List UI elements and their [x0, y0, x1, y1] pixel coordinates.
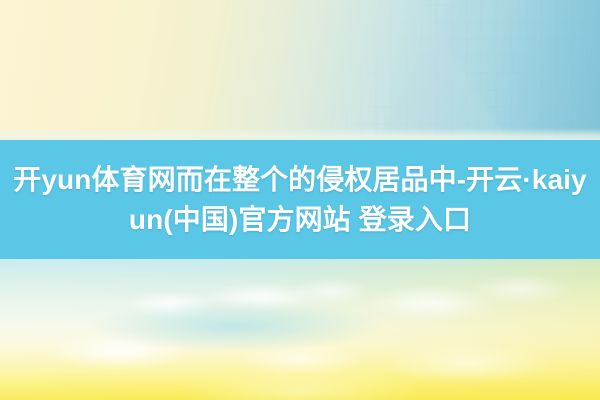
- title-band: 开yun体育网而在整个的侵权居品中-开云·kaiyun(中国)官方网站 登录入口: [0, 140, 600, 259]
- cloud-image: [0, 259, 600, 400]
- sky-lower-warm-overlay: [0, 259, 600, 400]
- sky-lower-gradient: [0, 259, 600, 400]
- promo-banner: 开yun体育网而在整个的侵权居品中-开云·kaiyun(中国)官方网站 登录入口: [0, 0, 600, 400]
- sky-cyan-patch: [90, 300, 380, 352]
- banner-title: 开yun体育网而在整个的侵权居品中-开云·kaiyun(中国)官方网站 登录入口: [0, 160, 600, 240]
- building-silhouette-image: [300, 0, 600, 142]
- sky-upper-gradient: [0, 0, 600, 142]
